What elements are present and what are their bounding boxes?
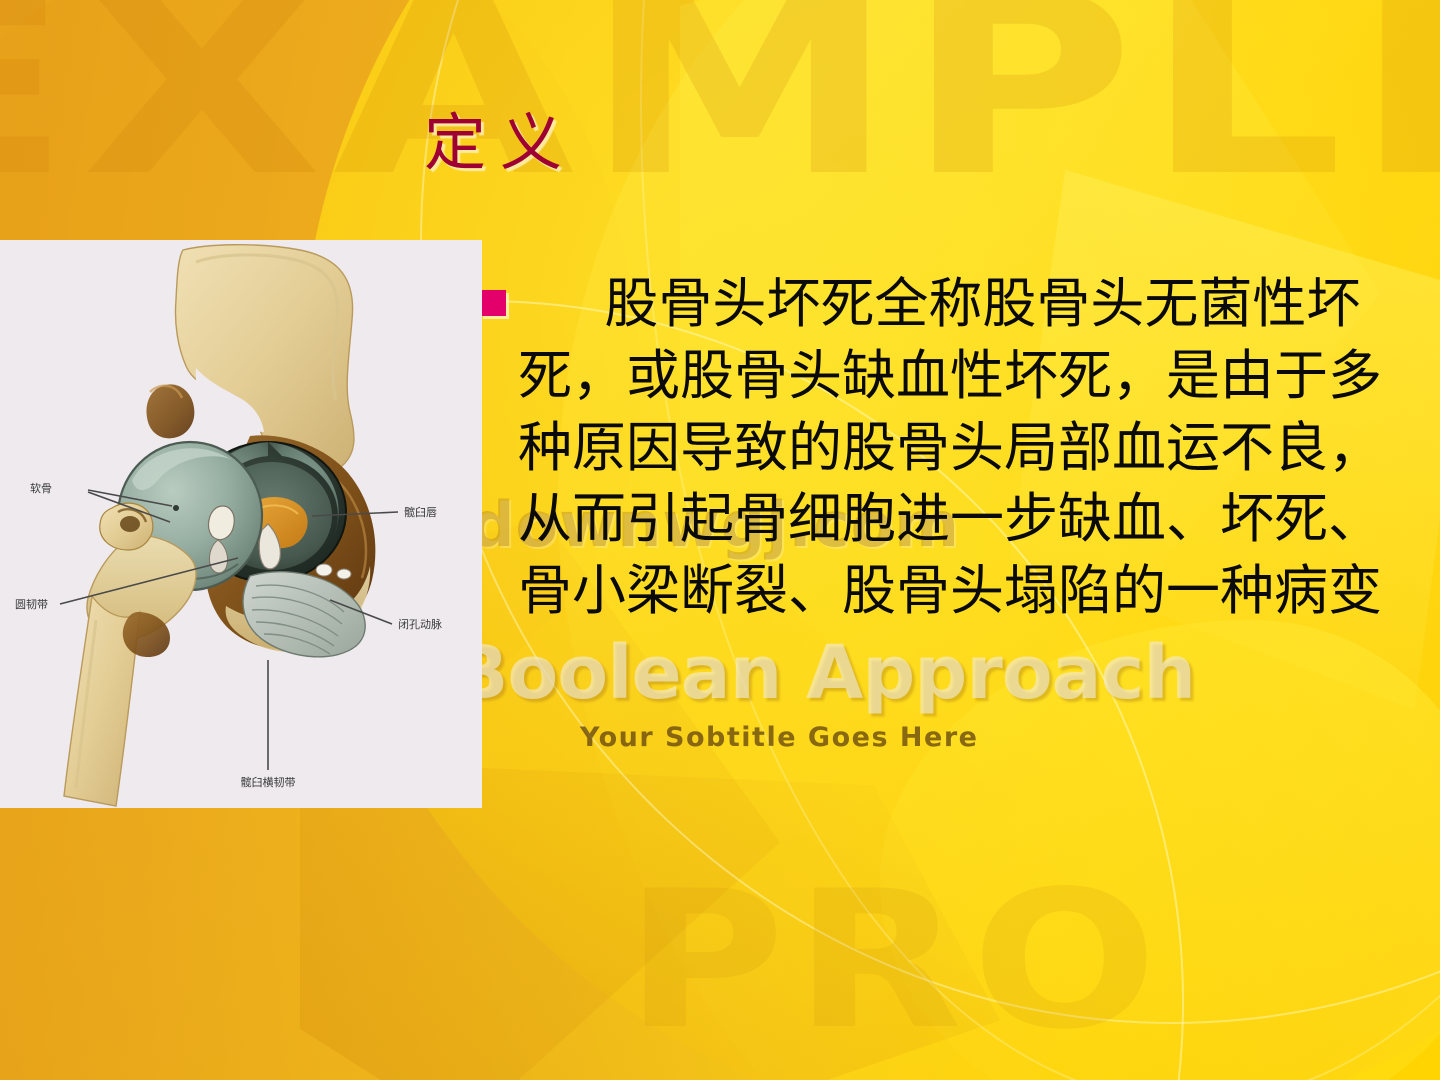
- slide-title: 定义: [0, 92, 1000, 182]
- label-round-ligament: 圆韧带: [15, 598, 48, 611]
- anatomy-image: 软骨 圆韧带 髋臼唇 闭孔动脉 髋臼横韧带: [0, 240, 482, 808]
- background-shade-right: [880, 620, 1440, 1080]
- presentation-slide: EXAMPLE PRO downwgj.com Boolean Approach…: [0, 0, 1440, 1080]
- hip-joint-illustration: 软骨 圆韧带 髋臼唇 闭孔动脉 髋臼横韧带: [0, 240, 482, 808]
- watermark-template-subtitle: Your Sobtitle Goes Here: [580, 722, 978, 753]
- watermark-template-title: Boolean Approach: [452, 630, 1195, 716]
- label-obturator-artery: 闭孔动脉: [398, 617, 442, 631]
- label-cartilage: 软骨: [30, 481, 52, 495]
- label-transverse-acetabular-ligament: 髋臼横韧带: [241, 775, 296, 789]
- ghost-letters-bottom: PRO: [625, 850, 1167, 1071]
- content-bullet-block: 股骨头坏死全称股骨头无菌性坏死，或股骨头缺血性坏死，是由于多种原因导致的股骨头局…: [480, 268, 1410, 627]
- background-wedge-4: [300, 760, 1000, 1080]
- bullet-square-icon: [480, 290, 506, 316]
- bullet-paragraph: 股骨头坏死全称股骨头无菌性坏死，或股骨头缺血性坏死，是由于多种原因导致的股骨头局…: [518, 268, 1410, 627]
- label-acetabular-labrum: 髋臼唇: [404, 505, 437, 519]
